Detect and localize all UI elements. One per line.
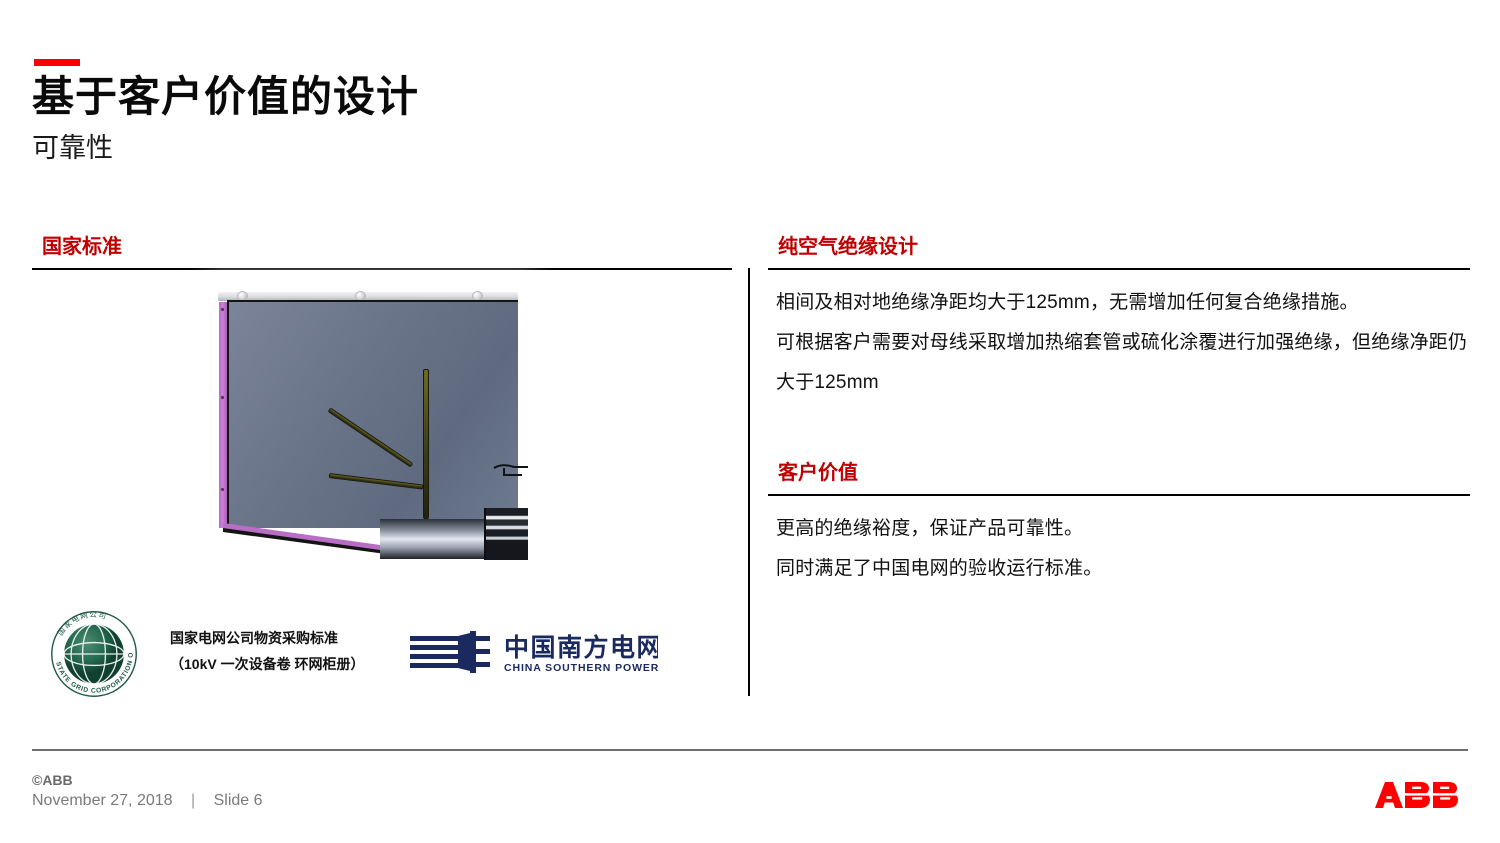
- body-paragraph: 同时满足了中国电网的验收运行标准。: [776, 549, 1476, 589]
- cad-edge-hole: [221, 396, 224, 399]
- cad-render-switchgear: [196, 276, 540, 576]
- footer-copyright: ©ABB: [32, 772, 73, 788]
- title-accent-bar: [34, 59, 80, 66]
- body-paragraph: 可根据客户需要对母线采取增加热缩套管或硫化涂覆进行加强绝缘，但绝缘净距仍大于12…: [776, 323, 1476, 403]
- csg-logo-text-cn: 中国南方电网: [504, 633, 658, 662]
- cad-bushing-stack: [484, 508, 528, 560]
- footer-separator: |: [191, 792, 195, 809]
- section-rule-left: [32, 268, 732, 270]
- section-heading-national-standard: 国家标准: [42, 230, 122, 259]
- china-southern-power-grid-logo-icon: 中国南方电网 CHINA SOUTHERN POWER GRID: [408, 628, 658, 676]
- footer-slide-number: Slide 6: [214, 792, 263, 809]
- cad-left-edge-line: [227, 300, 229, 530]
- section-rule-right-2: [768, 494, 1470, 496]
- section-body-customer-value: 更高的绝缘裕度，保证产品可靠性。 同时满足了中国电网的验收运行标准。: [776, 509, 1476, 589]
- body-paragraph: 相间及相对地绝缘净距均大于125mm，无需增加任何复合绝缘措施。: [776, 283, 1476, 323]
- cad-hook-detail: [492, 462, 530, 478]
- section-body-pure-air-insulation: 相间及相对地绝缘净距均大于125mm，无需增加任何复合绝缘措施。 可根据客户需要…: [776, 283, 1476, 403]
- page-title: 基于客户价值的设计: [32, 74, 419, 119]
- section-heading-pure-air-insulation: 纯空气绝缘设计: [778, 230, 918, 259]
- cad-left-edge-strip: [219, 302, 227, 528]
- state-grid-caption: 国家电网公司物资采购标准 （10kV 一次设备卷 环网柜册）: [170, 625, 364, 677]
- column-divider: [748, 268, 750, 696]
- cad-cylinder-body: [380, 519, 484, 559]
- state-grid-caption-line2: （10kV 一次设备卷 环网柜册）: [170, 651, 364, 677]
- state-grid-logo-icon: 国家电网公司 STATE GRID CORPORATION OF CHINA: [50, 610, 138, 698]
- section-rule-right-1: [768, 268, 1470, 270]
- section-heading-customer-value: 客户价值: [778, 456, 858, 485]
- footer-divider: [32, 749, 1468, 751]
- abb-logo-icon: [1374, 782, 1470, 808]
- slide-canvas: 基于客户价值的设计 可靠性 国家标准: [0, 0, 1500, 843]
- cad-panel-face: [229, 300, 518, 528]
- body-paragraph: 更高的绝缘裕度，保证产品可靠性。: [776, 509, 1476, 549]
- cad-edge-hole: [221, 488, 224, 491]
- cad-busbar-vertical: [423, 369, 429, 519]
- footer-meta: November 27, 2018 | Slide 6: [32, 792, 263, 810]
- page-subtitle: 可靠性: [32, 134, 113, 164]
- footer-date: November 27, 2018: [32, 792, 173, 809]
- cad-edge-hole: [221, 308, 224, 311]
- csg-logo-text-en: CHINA SOUTHERN POWER GRID: [504, 662, 658, 674]
- state-grid-caption-line1: 国家电网公司物资采购标准: [170, 625, 364, 651]
